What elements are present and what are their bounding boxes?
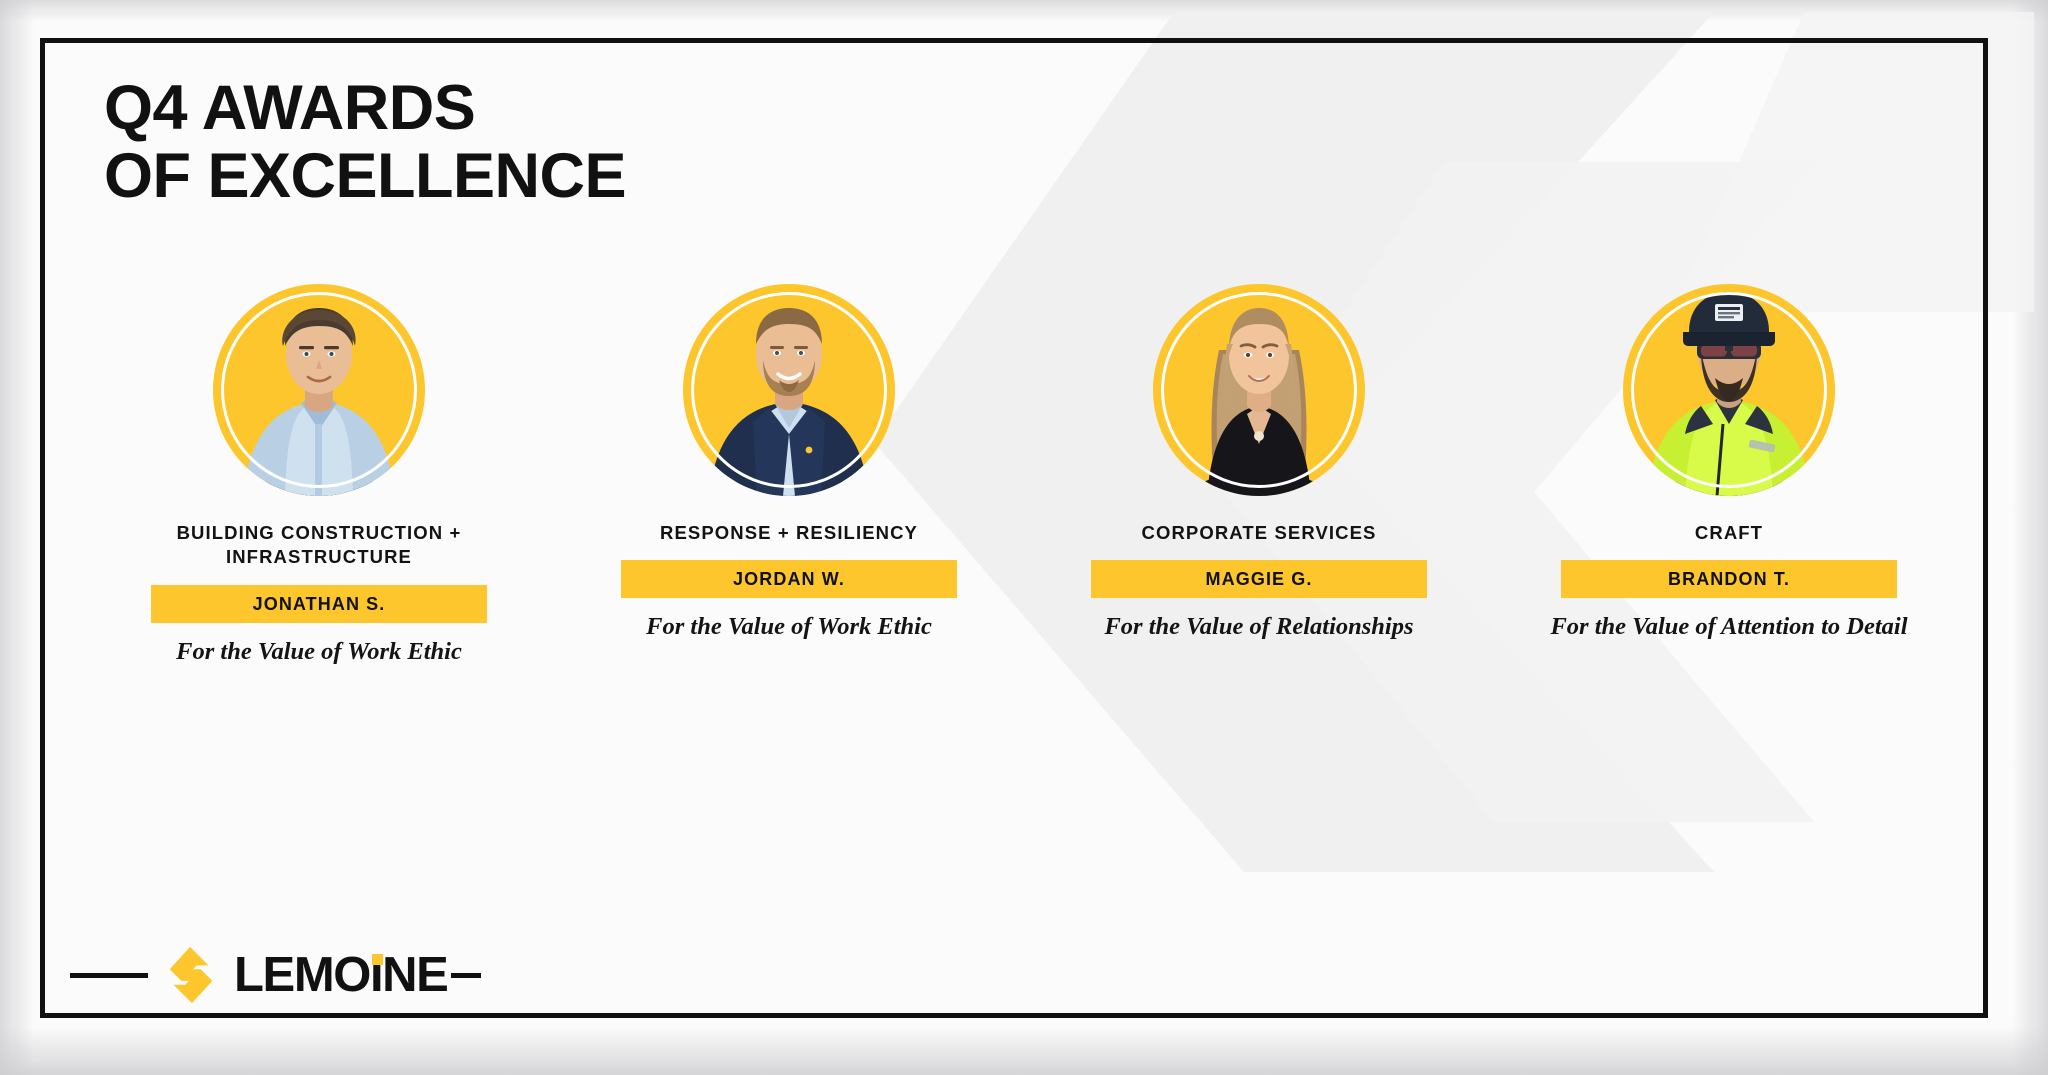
avatar [1623,284,1835,496]
award-recipient-name: BRANDON T. [1561,560,1897,598]
divider-left [70,973,148,978]
slide-page: Q4 AWARDS OF EXCELLENCE [0,0,2048,1075]
divider-right [451,973,481,978]
avatar [683,284,895,496]
portrait-man-light-blue-shirt-image [213,284,425,496]
award-department: BUILDING CONSTRUCTION + INFRASTRUCTURE [177,521,462,570]
logo-wordmark-text: LEMOINE [234,948,447,1002]
award-value: For the Value of Work Ethic [646,613,932,641]
award-recipient-name: MAGGIE G. [1091,560,1427,598]
lemoine-diamond-logo-icon [160,944,222,1006]
award-value: For the Value of Work Ethic [176,638,462,666]
award-department: CORPORATE SERVICES [1142,521,1377,545]
logo-wordmark: LEMOINE [234,951,451,1000]
award-card: RESPONSE + RESILIENCY JORDAN W. For the … [554,284,1024,666]
award-card: CORPORATE SERVICES MAGGIE G. For the Val… [1024,284,1494,666]
award-department: RESPONSE + RESILIENCY [660,521,918,545]
footer-logo-lockup: LEMOINE [70,944,550,1006]
awards-row: BUILDING CONSTRUCTION + INFRASTRUCTURE J… [84,284,1964,666]
portrait-woman-black-blouse-image [1153,284,1365,496]
avatar [213,284,425,496]
award-card: CRAFT BRANDON T. For the Value of Attent… [1494,284,1964,666]
award-recipient-name: JORDAN W. [621,560,957,598]
avatar [1153,284,1365,496]
logo-accent-dot-icon [372,954,383,965]
page-title: Q4 AWARDS OF EXCELLENCE [104,74,626,210]
portrait-man-navy-suit-image [683,284,895,496]
award-recipient-name: JONATHAN S. [151,585,487,623]
slide-canvas: Q4 AWARDS OF EXCELLENCE [14,12,2034,1058]
award-department: CRAFT [1695,521,1763,545]
award-value: For the Value of Relationships [1104,613,1413,641]
portrait-man-hardhat-hi-vis-image [1623,284,1835,496]
award-card: BUILDING CONSTRUCTION + INFRASTRUCTURE J… [84,284,554,666]
award-value: For the Value of Attention to Detail [1550,613,1907,641]
